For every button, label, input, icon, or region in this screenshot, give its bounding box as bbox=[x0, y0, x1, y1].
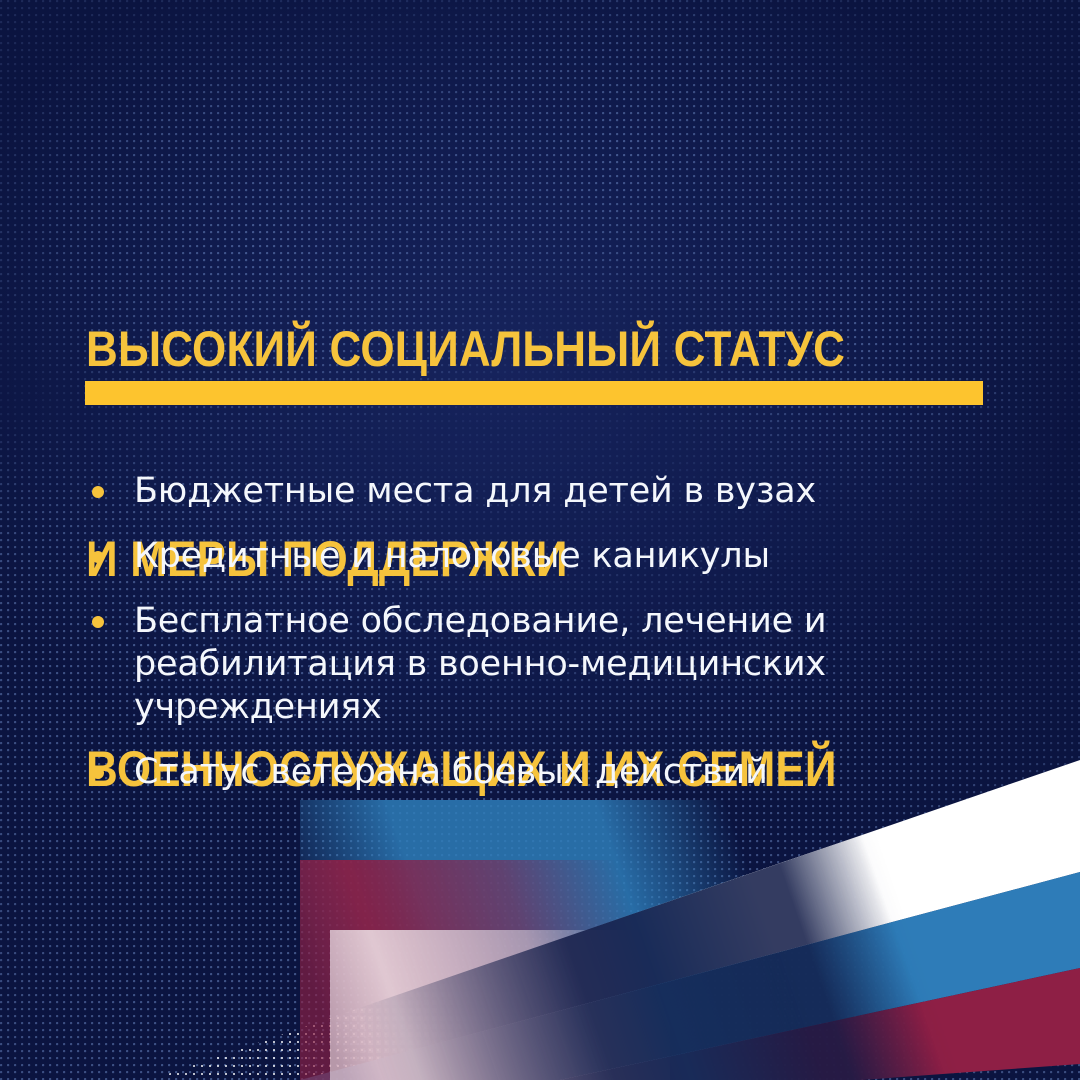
list-item-label: Статус ветерана боевых действий bbox=[134, 751, 1046, 794]
benefits-list: Бюджетные места для детей в вузах Кредит… bbox=[86, 470, 1046, 794]
poster-canvas: ВЫСОКИЙ СОЦИАЛЬНЫЙ СТАТУС И МЕРЫ ПОДДЕРЖ… bbox=[0, 0, 1080, 1080]
list-item: Бюджетные места для детей в вузах bbox=[86, 470, 1046, 513]
gold-divider-rule bbox=[85, 381, 983, 405]
bullet-dot-icon bbox=[92, 767, 104, 779]
list-item-label: Бюджетные места для детей в вузах bbox=[134, 470, 1046, 513]
bullet-dot-icon bbox=[92, 551, 104, 563]
list-item-label: Бесплатное обследование, лечение и реаби… bbox=[134, 600, 1046, 729]
poster-content: ВЫСОКИЙ СОЦИАЛЬНЫЙ СТАТУС И МЕРЫ ПОДДЕРЖ… bbox=[0, 0, 1080, 1080]
list-item-label: Кредитные и налоговые каникулы bbox=[134, 535, 1046, 578]
title-line-1: ВЫСОКИЙ СОЦИАЛЬНЫЙ СТАТУС bbox=[86, 314, 913, 384]
list-item: Бесплатное обследование, лечение и реаби… bbox=[86, 600, 1046, 729]
bullet-dot-icon bbox=[92, 616, 104, 628]
bullet-dot-icon bbox=[92, 486, 104, 498]
list-item: Кредитные и налоговые каникулы bbox=[86, 535, 1046, 578]
list-item: Статус ветерана боевых действий bbox=[86, 751, 1046, 794]
